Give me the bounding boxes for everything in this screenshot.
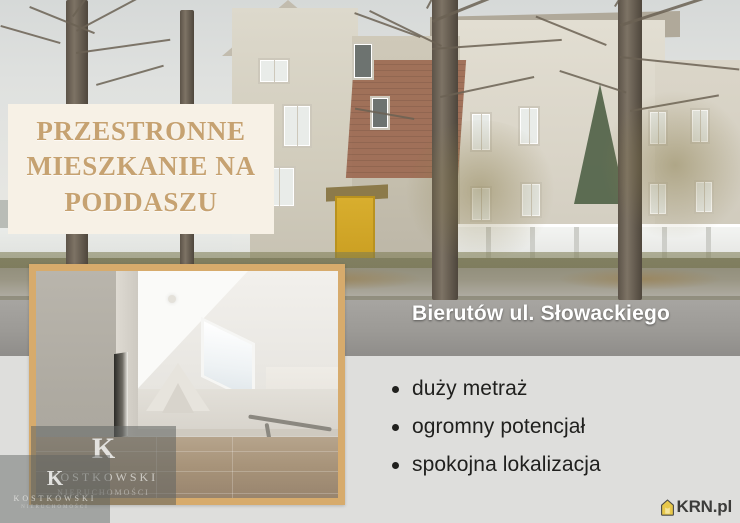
headline-line-2: MIESZKANIE NA: [26, 149, 255, 185]
attic-dormer-inner: [162, 383, 194, 413]
feature-label: spokojna lokalizacja: [412, 453, 601, 477]
bullet-dot-icon: [392, 424, 399, 431]
advertisement-canvas: Bierutów ul. Słowackiego PRZESTRONNE MIE…: [0, 0, 740, 523]
agency-name: KOSTKOWSKI: [14, 494, 97, 503]
krn-portal-badge[interactable]: KRN.pl: [660, 497, 732, 517]
property-address: Bierutów ul. Słowackiego: [412, 302, 670, 326]
house-logo-icon: [660, 499, 675, 516]
window: [282, 104, 312, 148]
agency-watermark-small: K KOSTKOWSKI NIERUCHOMOŚCI: [0, 455, 110, 523]
list-item: spokojna lokalizacja: [392, 453, 722, 477]
headline-line-3: PODDASZU: [64, 185, 217, 221]
list-item: duży metraż: [392, 377, 722, 401]
agency-monogram: K: [47, 468, 63, 489]
headline-banner: PRZESTRONNE MIESZKANIE NA PODDASZU: [8, 104, 274, 234]
bullet-dot-icon: [392, 462, 399, 469]
ceiling-fixture: [168, 295, 176, 303]
window: [352, 42, 374, 80]
krn-label: KRN.pl: [677, 497, 732, 517]
window: [258, 58, 290, 84]
list-item: ogromny potencjał: [392, 415, 722, 439]
feature-label: ogromny potencjał: [412, 415, 585, 439]
window: [370, 96, 390, 130]
agency-subtitle: NIERUCHOMOŚCI: [21, 505, 89, 510]
foliage-patch: [600, 90, 740, 240]
feature-label: duży metraż: [412, 377, 527, 401]
headline-line-1: PRZESTRONNE: [36, 114, 245, 150]
bullet-dot-icon: [392, 386, 399, 393]
foliage-patch: [400, 120, 560, 260]
feature-list: duży metraż ogromny potencjał spokojna l…: [392, 377, 722, 477]
